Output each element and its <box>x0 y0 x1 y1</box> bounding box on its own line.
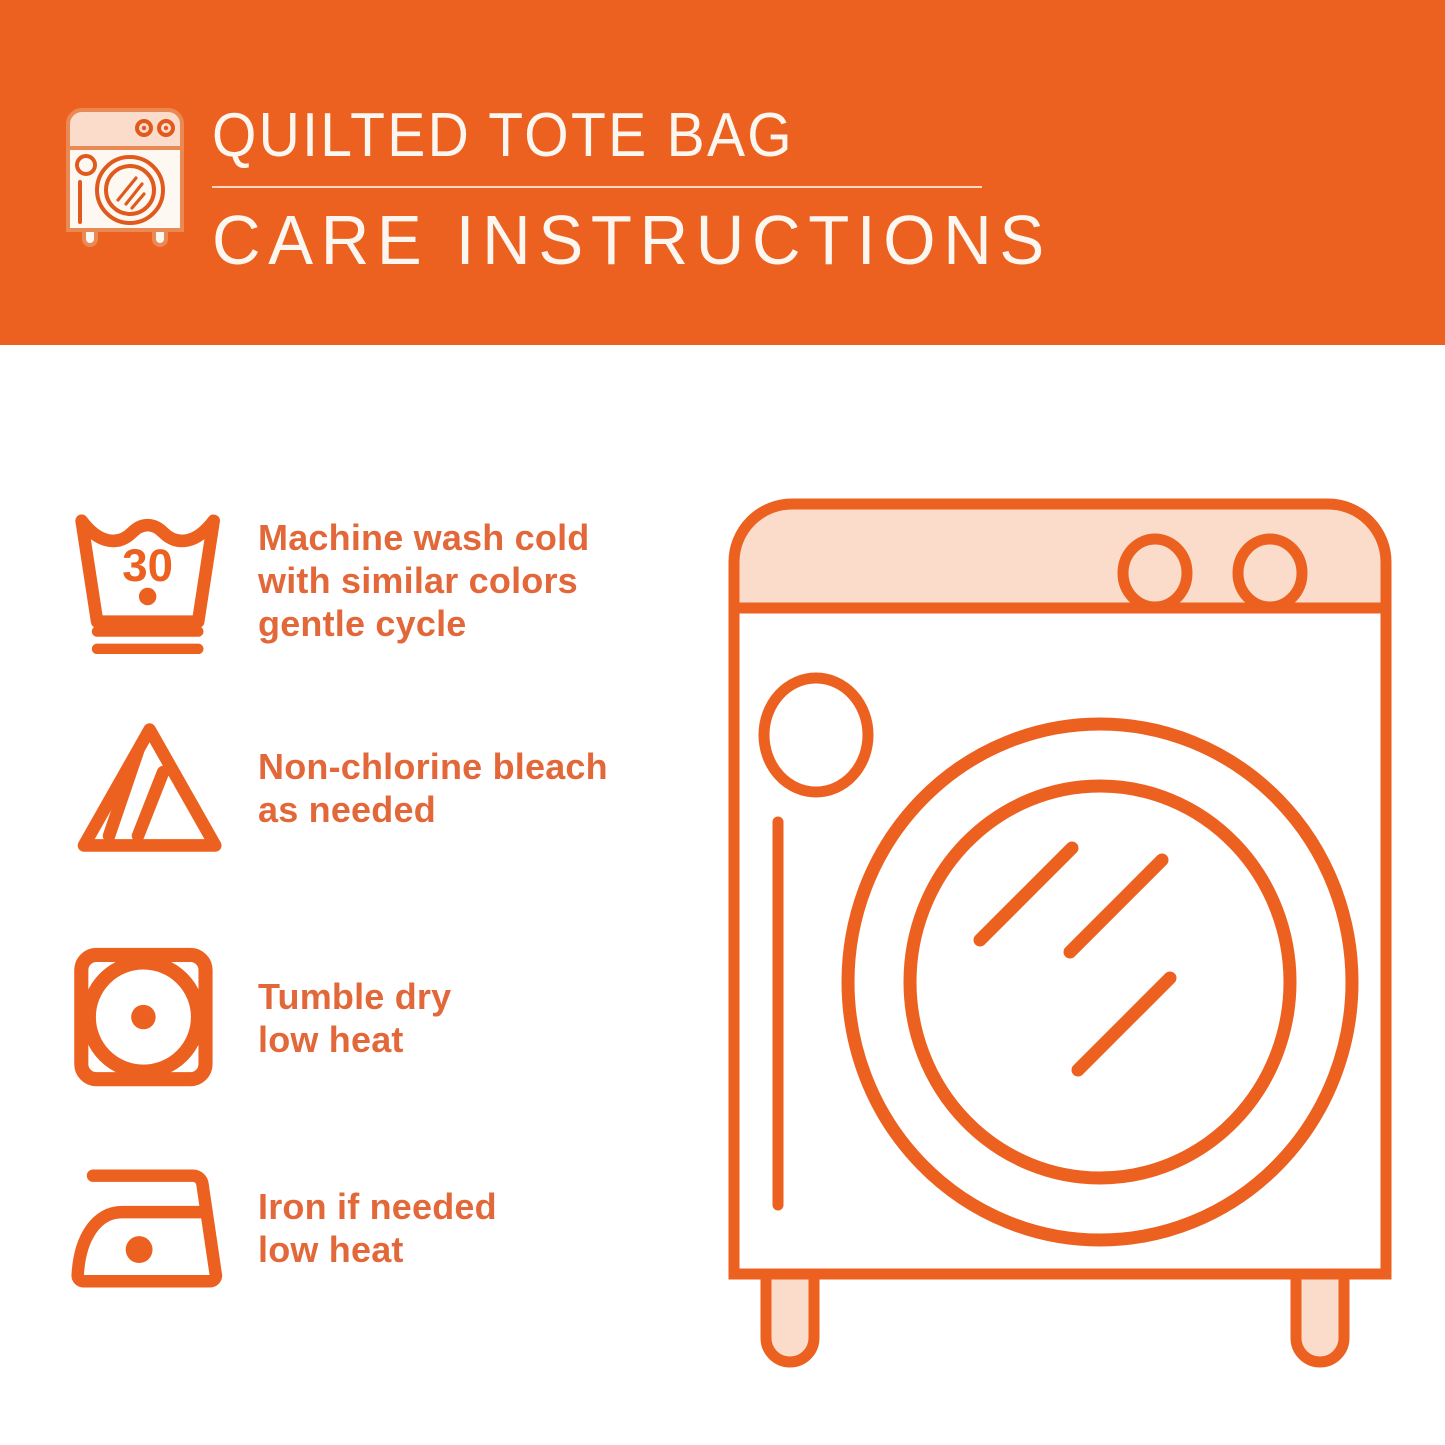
care-label-bleach: Non-chlorine bleach as needed <box>258 745 608 831</box>
wash-tub-30-icon: 30 <box>70 506 240 654</box>
title-divider <box>212 186 982 188</box>
care-row-machine-wash: 30 Machine wash cold with similar colors… <box>70 505 690 655</box>
care-instructions-page: QUILTED TOTE BAG CARE INSTRUCTIONS 30 Ma… <box>0 0 1445 1445</box>
care-label-machine-wash: Machine wash cold with similar colors ge… <box>258 516 589 645</box>
tumble-dry-low-icon <box>70 947 240 1089</box>
washer-control-panel <box>734 504 1386 608</box>
page-subtitle: CARE INSTRUCTIONS <box>212 200 970 280</box>
washing-machine-icon <box>62 98 188 248</box>
care-row-bleach: Non-chlorine bleach as needed <box>70 718 690 858</box>
washing-machine-illustration <box>700 470 1420 1390</box>
care-label-tumble-dry: Tumble dry low heat <box>258 975 451 1061</box>
iron-low-heat-icon <box>70 1158 240 1298</box>
header-text-block: QUILTED TOTE BAG CARE INSTRUCTIONS <box>212 100 1002 280</box>
care-label-iron: Iron if needed low heat <box>258 1185 497 1271</box>
header-banner: QUILTED TOTE BAG CARE INSTRUCTIONS <box>0 0 1445 345</box>
care-row-iron: Iron if needed low heat <box>70 1160 690 1295</box>
non-chlorine-bleach-triangle-icon <box>70 718 240 858</box>
washer-leg-right <box>1296 1270 1344 1362</box>
washer-leg-left <box>766 1270 814 1362</box>
wash-temperature-value: 30 <box>122 540 173 591</box>
care-row-tumble-dry: Tumble dry low heat <box>70 945 690 1090</box>
page-title: QUILTED TOTE BAG <box>212 100 939 172</box>
